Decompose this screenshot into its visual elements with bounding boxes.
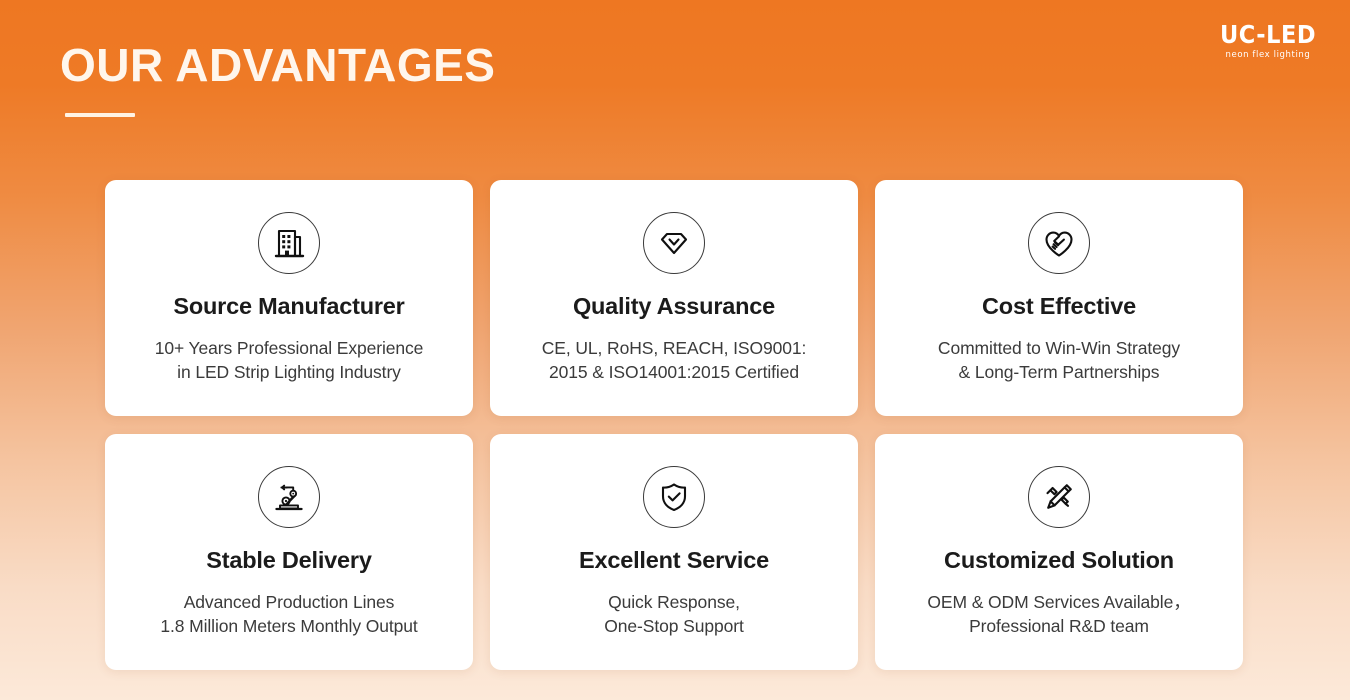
card-description-line: in LED Strip Lighting Industry	[155, 360, 424, 384]
card-description-line: Advanced Production Lines	[160, 590, 417, 614]
card-title: Excellent Service	[579, 547, 769, 574]
card-description-line: One-Stop Support	[604, 614, 743, 638]
card-description: CE, UL, RoHS, REACH, ISO9001: 2015 & ISO…	[542, 336, 807, 384]
shield-check-icon	[643, 466, 705, 528]
card-description-line: Professional R&D team	[927, 614, 1190, 638]
card-description-line: Committed to Win-Win Strategy	[938, 336, 1180, 360]
card-description: OEM & ODM Services Available， Profession…	[927, 590, 1190, 638]
advantage-card-excellent-service[interactable]: Excellent Service Quick Response, One-St…	[490, 434, 858, 670]
advantage-card-customized-solution[interactable]: Customized Solution OEM & ODM Services A…	[875, 434, 1243, 670]
page-title: OUR ADVANTAGES	[60, 40, 496, 91]
card-description-line: 1.8 Million Meters Monthly Output	[160, 614, 417, 638]
slide-advantages: OUR ADVANTAGES UC-LED neon flex lighting	[0, 0, 1350, 700]
card-description: Advanced Production Lines 1.8 Million Me…	[160, 590, 417, 638]
logo-wordmark: UC-LED	[1220, 22, 1316, 47]
card-description: 10+ Years Professional Experience in LED…	[155, 336, 424, 384]
advantage-card-source-manufacturer[interactable]: Source Manufacturer 10+ Years Profession…	[105, 180, 473, 416]
card-title: Stable Delivery	[206, 547, 372, 574]
card-description-line: CE, UL, RoHS, REACH, ISO9001:	[542, 336, 807, 360]
pencil-ruler-icon	[1028, 466, 1090, 528]
card-description-line: 10+ Years Professional Experience	[155, 336, 424, 360]
logo-tagline: neon flex lighting	[1220, 51, 1316, 60]
brand-logo: UC-LED neon flex lighting	[1220, 22, 1316, 60]
card-description-line: OEM & ODM Services Available，	[927, 590, 1190, 614]
advantage-card-cost-effective[interactable]: Cost Effective Committed to Win-Win Stra…	[875, 180, 1243, 416]
handshake-heart-icon	[1028, 212, 1090, 274]
card-description-line: & Long-Term Partnerships	[938, 360, 1180, 384]
robot-arm-icon	[258, 466, 320, 528]
card-description-line: 2015 & ISO14001:2015 Certified	[542, 360, 807, 384]
card-description-line: Quick Response,	[604, 590, 743, 614]
advantages-card-grid: Source Manufacturer 10+ Years Profession…	[105, 180, 1245, 670]
card-description: Quick Response, One-Stop Support	[604, 590, 743, 638]
card-title: Quality Assurance	[573, 293, 775, 320]
advantage-card-stable-delivery[interactable]: Stable Delivery Advanced Production Line…	[105, 434, 473, 670]
diamond-icon	[643, 212, 705, 274]
card-description: Committed to Win-Win Strategy & Long-Ter…	[938, 336, 1180, 384]
building-icon	[258, 212, 320, 274]
title-underline-accent	[65, 113, 135, 117]
card-title: Source Manufacturer	[173, 293, 404, 320]
advantage-card-quality-assurance[interactable]: Quality Assurance CE, UL, RoHS, REACH, I…	[490, 180, 858, 416]
card-title: Customized Solution	[944, 547, 1174, 574]
card-title: Cost Effective	[982, 293, 1136, 320]
